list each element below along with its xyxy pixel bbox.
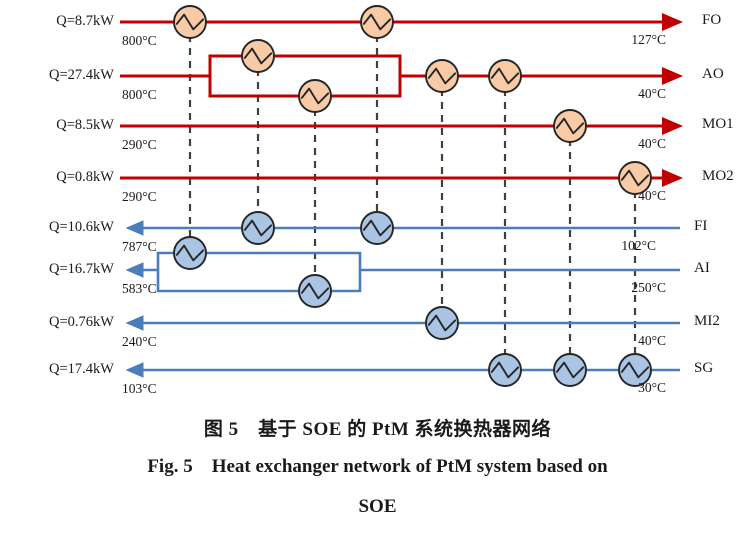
heat-exchanger-E13[interactable] [426,307,458,339]
inlet-temp-label-MO1: 290°C [122,138,157,152]
caption-english-line2: SOE [0,493,755,521]
stream-name-label-SG: SG [694,361,713,376]
stream-lines-group [120,22,680,370]
heat-exchanger-E6[interactable] [489,60,521,92]
network-svg [0,0,755,410]
duty-label-MO1: Q=8.5kW [56,118,114,133]
figure-container: Q=8.7kW800°C127°CFOQ=27.4kW800°C40°CAOQ=… [0,0,755,550]
stream-name-label-FO: FO [702,13,721,28]
heat-exchanger-E14[interactable] [489,354,521,386]
outlet-temp-label-SG: 30°C [638,381,666,395]
outlet-temp-label-FI: 102°C [621,239,656,253]
inlet-temp-label-AO: 800°C [122,88,157,102]
stream-name-label-FI: FI [694,219,707,234]
duty-label-FO: Q=8.7kW [56,14,114,29]
splitter-AO-branch-top [210,56,400,76]
heat-exchanger-network-diagram: Q=8.7kW800°C127°CFOQ=27.4kW800°C40°CAOQ=… [0,0,755,410]
duty-label-FI: Q=10.6kW [49,220,114,235]
heat-exchanger-E9[interactable] [242,212,274,244]
inlet-temp-label-MO2: 290°C [122,190,157,204]
stream-name-label-AI: AI [694,261,710,276]
duty-label-MI2: Q=0.76kW [49,315,114,330]
inlet-temp-label-FO: 800°C [122,34,157,48]
inlet-temp-label-FI: 787°C [122,240,157,254]
exchangers-group [174,6,651,386]
outlet-temp-label-MO1: 40°C [638,137,666,151]
heat-exchanger-E3[interactable] [299,80,331,112]
heat-exchanger-E5[interactable] [426,60,458,92]
outlet-temp-label-AO: 40°C [638,87,666,101]
duty-label-AO: Q=27.4kW [49,68,114,83]
figure-caption: 图 5 基于 SOE 的 PtM 系统换热器网络 Fig. 5 Heat exc… [0,408,755,520]
heat-exchanger-E7[interactable] [554,110,586,142]
outlet-temp-label-MO2: 40°C [638,189,666,203]
duty-label-SG: Q=17.4kW [49,362,114,377]
caption-chinese: 图 5 基于 SOE 的 PtM 系统换热器网络 [0,414,755,441]
outlet-temp-label-FO: 127°C [631,33,666,47]
heat-exchanger-E12[interactable] [299,275,331,307]
heat-exchanger-E2[interactable] [242,40,274,72]
outlet-temp-label-MI2: 40°C [638,334,666,348]
stream-name-label-MO2: MO2 [702,169,734,184]
stream-name-label-MI2: MI2 [694,314,720,329]
heat-exchanger-E11[interactable] [174,237,206,269]
heat-exchanger-E4[interactable] [361,6,393,38]
outlet-temp-label-AI: 250°C [631,281,666,295]
inlet-temp-label-SG: 103°C [122,382,157,396]
inlet-temp-label-AI: 583°C [122,282,157,296]
heat-exchanger-E1[interactable] [174,6,206,38]
inlet-temp-label-MI2: 240°C [122,335,157,349]
duty-label-AI: Q=16.7kW [49,262,114,277]
heat-exchanger-E10[interactable] [361,212,393,244]
caption-english-line1: Fig. 5 Heat exchanger network of PtM sys… [0,453,755,481]
stream-name-label-MO1: MO1 [702,117,734,132]
stream-name-label-AO: AO [702,67,724,82]
duty-label-MO2: Q=0.8kW [56,170,114,185]
heat-exchanger-E15[interactable] [554,354,586,386]
match-lines-group [190,22,635,370]
